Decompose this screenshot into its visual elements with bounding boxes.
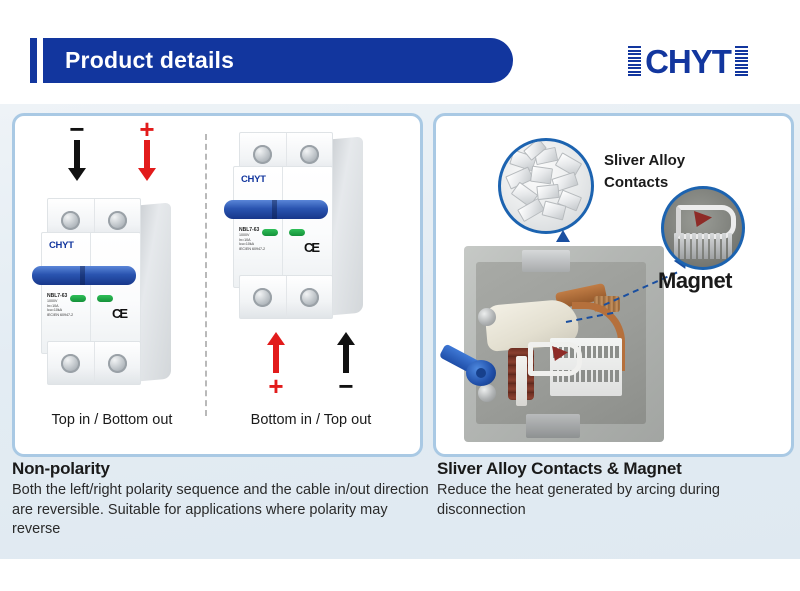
breaker-toggle-lever [224, 200, 328, 219]
breaker-brand-label: CHYT [49, 240, 74, 251]
logo-wordmark: CHYT [641, 45, 735, 78]
polarity-sign-negative: − [69, 120, 84, 140]
content-area: − + [0, 104, 800, 559]
terminal-screw-icon [61, 354, 80, 373]
ce-mark-icon: CE [304, 240, 318, 255]
breaker-terminal-bottom [47, 341, 141, 385]
breaker-side-body [329, 137, 363, 316]
terminal-screw-icon [300, 145, 319, 164]
callout-label-contacts-line1: Sliver Alloy [604, 150, 734, 172]
arrow-up-icon [267, 332, 285, 345]
logo-bars-right-icon [735, 46, 748, 76]
polarity-mark-positive: + [263, 332, 289, 402]
cutaway-coil-core [516, 356, 527, 406]
polarity-sign-positive: + [139, 120, 154, 140]
caption-contacts-magnet: Sliver Alloy Contacts & Magnet Reduce th… [437, 459, 792, 520]
terminal-screw-icon [61, 211, 80, 230]
cutaway-toggle-lever [440, 348, 502, 382]
polarity-mark-negative: − [333, 332, 359, 402]
polarity-sign-positive: + [268, 377, 283, 397]
breaker-group-bottom-in: CHYT NBL7-63 1000V In=10A Icu=10kA IEC/E… [211, 120, 411, 450]
terminal-screw-icon [253, 288, 272, 307]
polarity-row-top: − + [19, 120, 205, 190]
breaker-caption: Top in / Bottom out [19, 412, 205, 428]
arrow-shaft [273, 345, 279, 373]
polarity-mark-positive: + [134, 120, 160, 190]
cutaway-screw-icon [478, 384, 496, 402]
breaker-toggle-lever [32, 266, 136, 285]
lever-notch [272, 200, 277, 219]
caption-non-polarity: Non-polarity Both the left/right polarit… [12, 459, 432, 540]
caption-body: Both the left/right polarity sequence an… [12, 481, 432, 540]
lever-knob [466, 360, 496, 386]
breaker-front-face: CHYT NBL7-63 1000V In=10A Icu=10kA IEC/E… [233, 132, 331, 317]
polarity-row-bottom: + − [211, 332, 411, 402]
cutaway-bottom-contact-block [526, 414, 580, 438]
logo-bars-left-icon [628, 46, 641, 76]
breaker-body: CHYT NBL7-63 1000V In=10A Icu=10kA IEC/E… [233, 166, 333, 288]
terminal-screw-icon [108, 211, 127, 230]
caption-body: Reduce the heat generated by arcing duri… [437, 481, 792, 520]
arrow-shaft [74, 140, 80, 168]
arrow-shaft [144, 140, 150, 168]
page-title: Product details [65, 38, 234, 83]
breaker-indicator-led [289, 229, 305, 236]
panel-divider [205, 134, 207, 416]
arrow-down-icon [138, 168, 156, 181]
arrow-down-icon [68, 168, 86, 181]
polarity-sign-negative: − [338, 377, 353, 397]
lever-notch [80, 266, 85, 285]
caption-title: Sliver Alloy Contacts & Magnet [437, 459, 792, 479]
brand-logo: CHYT [597, 40, 779, 82]
page-header: Product details CHYT [0, 0, 800, 105]
panel-non-polarity: − + [12, 113, 423, 457]
breaker-caption: Bottom in / Top out [211, 412, 411, 428]
ce-mark-icon: CE [112, 306, 126, 321]
breaker-cutaway-diagram [464, 246, 674, 444]
title-banner: Product details [43, 38, 513, 83]
breaker-terminal-bottom [239, 275, 333, 319]
callout-label-magnet: Magnet [658, 268, 732, 294]
breaker-side-body [137, 203, 171, 382]
breaker-indicator-led [97, 295, 113, 302]
magnifier-silver-alloy-contacts [498, 138, 594, 234]
header-accent-bar [30, 38, 37, 83]
breaker-device: CHYT NBL7-63 1000V In=10A Icu=10kA IEC/E… [41, 198, 171, 383]
product-details-page: Product details CHYT − [0, 0, 800, 591]
breaker-front-face: CHYT NBL7-63 1000V In=10A Icu=10kA IEC/E… [41, 198, 139, 383]
terminal-screw-icon [253, 145, 272, 164]
arrow-up-icon [337, 332, 355, 345]
breaker-indicator-led [262, 229, 278, 236]
panel-contacts-magnet: Sliver Alloy Contacts Magnet [433, 113, 794, 457]
breaker-indicator-led [70, 295, 86, 302]
cutaway-screw-icon [478, 308, 496, 326]
terminal-screw-icon [300, 288, 319, 307]
breaker-body: CHYT NBL7-63 1000V In=10A Icu=10kA IEC/E… [41, 232, 141, 354]
terminal-screw-icon [108, 354, 127, 373]
magnifier-magnet [661, 186, 745, 270]
caption-title: Non-polarity [12, 459, 432, 479]
breaker-device: CHYT NBL7-63 1000V In=10A Icu=10kA IEC/E… [233, 132, 363, 317]
breaker-group-top-in: − + [19, 120, 205, 450]
cutaway-top-contact-block [522, 250, 570, 272]
breaker-brand-label: CHYT [241, 174, 266, 185]
polarity-mark-negative: − [64, 120, 90, 190]
magnet-pins [674, 233, 732, 259]
arrow-shaft [343, 345, 349, 373]
